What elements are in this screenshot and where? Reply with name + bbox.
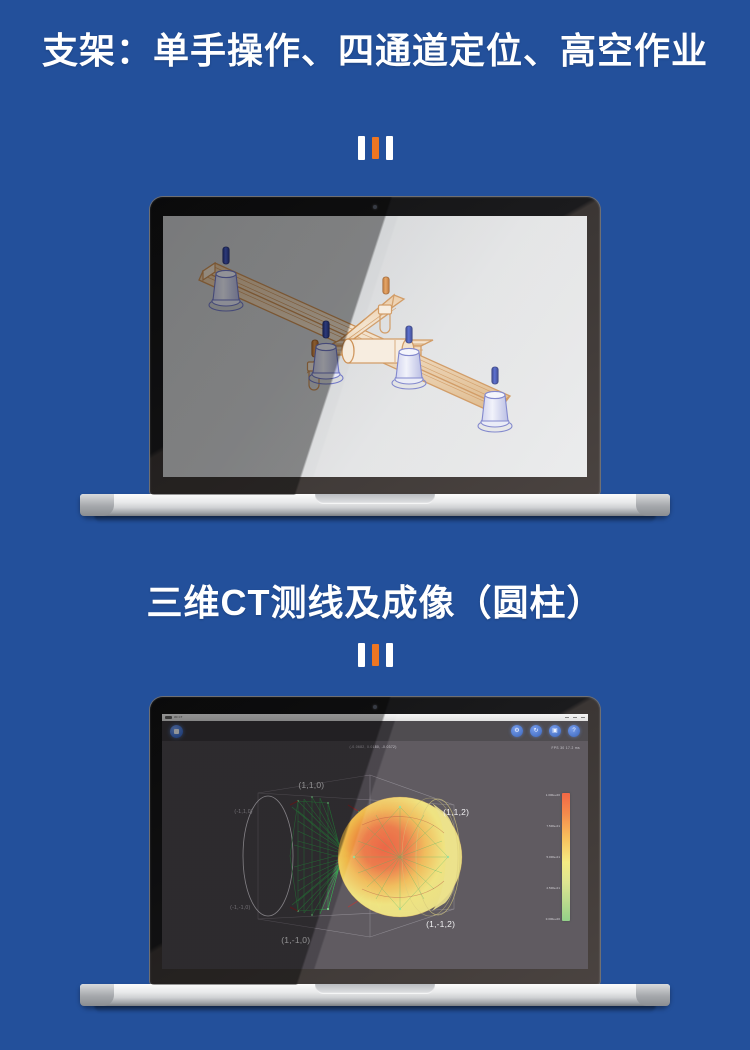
section-title-bracket: 支架：单手操作、四通道定位、高空作业 [0,26,750,76]
base-notch [315,984,435,994]
promo-page: 支架：单手操作、四通道定位、高空作业 [0,0,750,1050]
window-title: 3D CT [174,716,183,719]
vertex-label-n1-n1-0: (-1,-1,0) [230,905,250,911]
cad-bracket-drawing [163,216,587,477]
title-divider-ct [0,643,750,667]
laptop-base [80,984,670,1018]
colorbar-tick-4: 0.000e+00 [546,917,560,921]
ct-app-toolbar: ⚙ ↻ ▣ ? [162,721,588,741]
title-divider-bracket [0,136,750,160]
vertex-label-n1-1-0: (-1,1,0) [234,809,252,815]
app-logo-icon[interactable] [170,725,183,738]
refresh-icon[interactable]: ↻ [530,725,542,737]
ct-3d-viewport[interactable]: (-0.0682, 0.0180, -0.0372) FPS 30 17.2 m… [162,741,588,969]
window-app-icon [165,716,172,719]
vertex-label-1-n1-2: (1,-1,2) [426,919,455,929]
base-notch [315,494,435,504]
divider-bar-accent [372,137,379,159]
help-icon[interactable]: ? [568,725,580,737]
divider-bar-accent [372,644,379,666]
webcam-icon [373,205,377,209]
laptop-lid: 3D CT ⚙ ↻ ▣ ? [150,697,600,985]
settings-icon[interactable]: ⚙ [511,725,523,737]
colorbar-legend: 1.000e+00 7.500e-01 5.000e-01 2.500e-01 … [546,793,570,921]
divider-bar-right [386,136,393,160]
laptop-mockup-bracket [80,197,670,528]
laptop-base [80,494,670,528]
camera-icon[interactable]: ▣ [549,725,561,737]
base-body [80,494,670,516]
vertex-label-1-n1-0: (1,-1,0) [281,935,310,945]
vertex-label-1-1-0: (1,1,0) [298,780,324,790]
colorbar-tick-2: 5.000e-01 [547,855,561,859]
colorbar-gradient-strip [562,793,570,921]
vertex-label-1-1-2: (1,1,2) [443,807,469,817]
base-body [80,984,670,1006]
webcam-icon [373,705,377,709]
section-title-ct: 三维CT测线及成像（圆柱） [0,578,750,628]
ct-scene-render [162,741,586,969]
window-maximize-button[interactable] [573,717,577,718]
divider-bar-left [358,643,365,667]
window-minimize-button[interactable] [565,717,569,718]
ct-window-titlebar: 3D CT [162,714,588,721]
colorbar-tick-1: 7.500e-01 [547,824,561,828]
page-bottom-fill [0,1034,750,1050]
colorbar-tick-0: 1.000e+00 [546,793,560,797]
cad-screen [163,216,587,477]
divider-bar-left [358,136,365,160]
divider-bar-right [386,643,393,667]
colorbar-tick-3: 2.500e-01 [547,886,561,890]
ct-screen: 3D CT ⚙ ↻ ▣ ? [162,714,588,969]
laptop-mockup-ct: 3D CT ⚙ ↻ ▣ ? [80,697,670,1018]
laptop-lid [150,197,600,495]
window-close-button[interactable] [581,717,585,718]
